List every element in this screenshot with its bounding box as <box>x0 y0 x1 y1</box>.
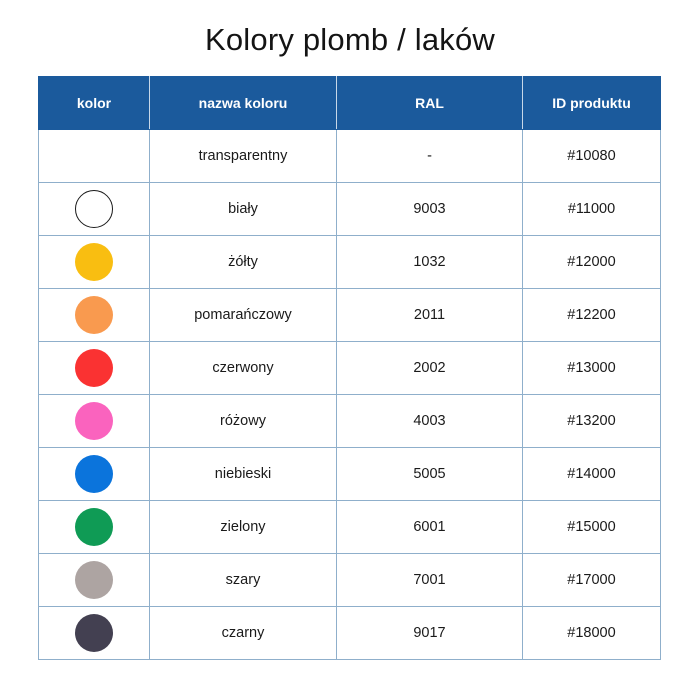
cell-color-name: zielony <box>150 501 337 554</box>
cell-product-id: #18000 <box>523 607 661 660</box>
column-header-ral: RAL <box>337 77 523 130</box>
table-row: czarny9017#18000 <box>39 607 661 660</box>
cell-color-name: biały <box>150 183 337 236</box>
table-row: czerwony2002#13000 <box>39 342 661 395</box>
swatch-cell <box>39 236 150 289</box>
cell-ral: 9017 <box>337 607 523 660</box>
cell-ral: - <box>337 130 523 183</box>
swatch-cell <box>39 501 150 554</box>
swatch-black <box>75 614 113 652</box>
table-row: różowy4003#13200 <box>39 395 661 448</box>
swatch-cell <box>39 607 150 660</box>
swatch-cell <box>39 289 150 342</box>
cell-product-id: #13200 <box>523 395 661 448</box>
cell-ral: 6001 <box>337 501 523 554</box>
cell-color-name: pomarańczowy <box>150 289 337 342</box>
color-table: kolor nazwa koloru RAL ID produktu trans… <box>38 76 661 660</box>
swatch-green <box>75 508 113 546</box>
cell-ral: 2002 <box>337 342 523 395</box>
swatch-pink <box>75 402 113 440</box>
cell-color-name: czerwony <box>150 342 337 395</box>
table-header: kolor nazwa koloru RAL ID produktu <box>39 77 661 130</box>
table-header-row: kolor nazwa koloru RAL ID produktu <box>39 77 661 130</box>
swatch-cell <box>39 554 150 607</box>
cell-product-id: #10080 <box>523 130 661 183</box>
cell-color-name: szary <box>150 554 337 607</box>
table-body: transparentny-#10080biały9003#11000żółty… <box>39 130 661 660</box>
column-header-id-produktu: ID produktu <box>523 77 661 130</box>
cell-color-name: czarny <box>150 607 337 660</box>
page-root: Kolory plomb / laków kolor nazwa koloru … <box>0 0 700 700</box>
table-row: biały9003#11000 <box>39 183 661 236</box>
swatch-cell <box>39 395 150 448</box>
swatch-cell <box>39 342 150 395</box>
table-row: niebieski5005#14000 <box>39 448 661 501</box>
cell-color-name: różowy <box>150 395 337 448</box>
cell-ral: 1032 <box>337 236 523 289</box>
swatch-blue <box>75 455 113 493</box>
swatch-cell <box>39 130 150 183</box>
swatch-cell <box>39 448 150 501</box>
table-row: żółty1032#12000 <box>39 236 661 289</box>
cell-ral: 5005 <box>337 448 523 501</box>
swatch-cell <box>39 183 150 236</box>
cell-ral: 4003 <box>337 395 523 448</box>
page-title: Kolory plomb / laków <box>0 20 700 60</box>
table-row: transparentny-#10080 <box>39 130 661 183</box>
swatch-white <box>75 190 113 228</box>
swatch-orange <box>75 296 113 334</box>
cell-ral: 7001 <box>337 554 523 607</box>
cell-product-id: #12000 <box>523 236 661 289</box>
table-row: pomarańczowy2011#12200 <box>39 289 661 342</box>
cell-color-name: niebieski <box>150 448 337 501</box>
cell-product-id: #12200 <box>523 289 661 342</box>
cell-product-id: #17000 <box>523 554 661 607</box>
cell-color-name: żółty <box>150 236 337 289</box>
cell-product-id: #11000 <box>523 183 661 236</box>
cell-ral: 2011 <box>337 289 523 342</box>
cell-product-id: #15000 <box>523 501 661 554</box>
cell-ral: 9003 <box>337 183 523 236</box>
swatch-yellow <box>75 243 113 281</box>
table-row: zielony6001#15000 <box>39 501 661 554</box>
swatch-gray <box>75 561 113 599</box>
table-row: szary7001#17000 <box>39 554 661 607</box>
column-header-kolor: kolor <box>39 77 150 130</box>
column-header-nazwa-koloru: nazwa koloru <box>150 77 337 130</box>
cell-color-name: transparentny <box>150 130 337 183</box>
cell-product-id: #14000 <box>523 448 661 501</box>
swatch-red <box>75 349 113 387</box>
cell-product-id: #13000 <box>523 342 661 395</box>
